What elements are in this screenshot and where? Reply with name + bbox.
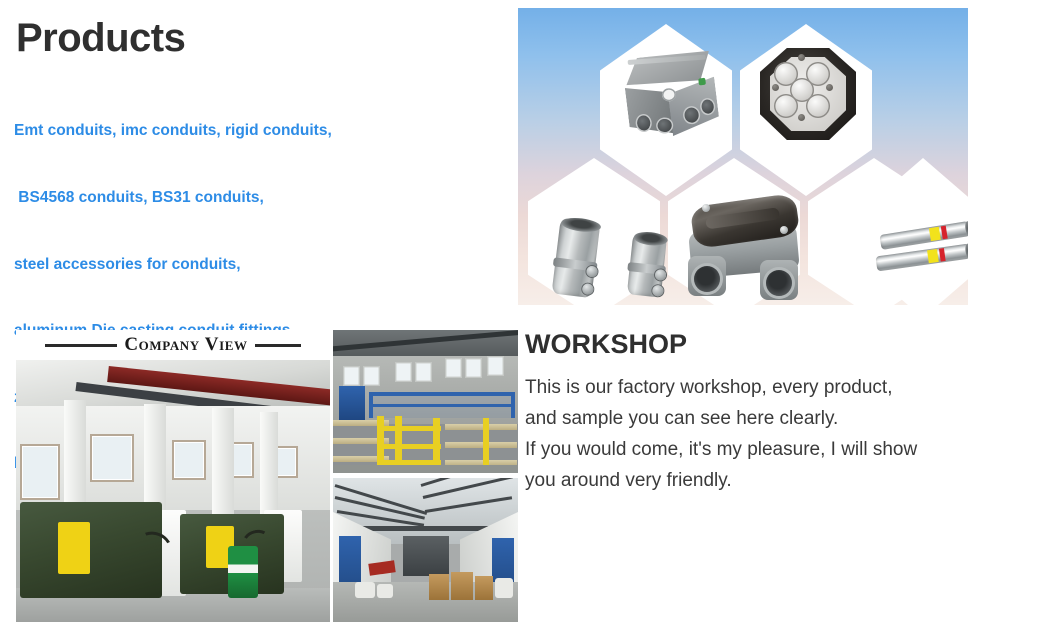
company-view-title: Company View — [124, 334, 247, 356]
workshop-line: If you would come, it's my pleasure, I w… — [525, 434, 1035, 465]
yellow-rack-beam — [377, 444, 441, 449]
yellow-rack-post — [483, 418, 489, 468]
coupling-screw — [652, 285, 664, 297]
warehouse-window — [487, 356, 504, 376]
page-title: Products — [16, 16, 185, 61]
warehouse-window — [415, 362, 432, 382]
warehouse-window — [363, 366, 380, 386]
collage-inner — [518, 8, 968, 305]
product-list-line: BS4568 conduits, BS31 conduits, — [14, 187, 484, 209]
company-view-banner: Company View — [16, 330, 330, 360]
ceiling-box-product — [760, 48, 856, 140]
warehouse-racks-image — [333, 330, 518, 473]
pipe-label-yellow — [927, 249, 939, 263]
coupling-product-small — [627, 232, 667, 297]
ceiling-box-stud — [798, 54, 805, 61]
junction-box-product — [621, 49, 720, 141]
ceiling-box-knockout — [774, 94, 798, 118]
carton-stack — [451, 572, 473, 600]
carton-stack — [429, 574, 449, 600]
pipe-label-red — [939, 248, 946, 262]
warehouse-window — [445, 358, 462, 378]
product-list-line: Emt conduits, imc conduits, rigid condui… — [14, 120, 484, 142]
pipe-end-cap — [964, 221, 968, 237]
conduit-body-bore — [766, 270, 792, 296]
banner-rule-left — [45, 344, 117, 347]
page-root: Products Emt conduits, imc conduits, rig… — [0, 0, 1060, 636]
warehouse-corridor-image — [333, 478, 518, 622]
workshop-title: WORKSHOP — [525, 329, 687, 360]
shelf-board — [445, 442, 517, 448]
warehouse-window — [465, 358, 482, 378]
goods-sack — [355, 582, 375, 598]
factory-window — [20, 444, 60, 500]
conduit-body-bolt — [702, 204, 710, 212]
workshop-line: This is our factory workshop, every prod… — [525, 372, 1035, 403]
warehouse-window — [343, 366, 360, 386]
goods-sack — [495, 578, 513, 598]
factory-window — [172, 440, 206, 480]
factory-column — [260, 412, 278, 520]
goods-sack — [377, 584, 393, 598]
corridor-red-banner — [368, 560, 395, 576]
conduit-body-bore — [694, 266, 720, 292]
warehouse-floor — [333, 465, 518, 473]
banner-rule-right — [255, 344, 301, 347]
box-ground-screw — [698, 78, 706, 86]
conduit-body-bolt — [780, 226, 788, 234]
carton-stack — [475, 576, 493, 600]
conduit-pipes-product — [876, 204, 968, 294]
pipe-label-yellow — [929, 227, 941, 241]
coupling-screw — [654, 269, 666, 281]
product-list-line: steel accessories for conduits, — [14, 254, 484, 276]
company-view-image: Company View — [16, 330, 330, 622]
pipe-label-red — [941, 226, 948, 240]
company-view-scene — [16, 360, 330, 622]
factory-window — [90, 434, 134, 482]
workshop-description: This is our factory workshop, every prod… — [525, 372, 1035, 496]
workshop-line: you around very friendly. — [525, 465, 1035, 496]
pipe-end-cap — [965, 243, 968, 259]
conduit-body-product — [684, 200, 804, 300]
ceiling-box-stud — [826, 84, 833, 91]
yellow-rack-beam — [377, 426, 441, 431]
factory-column — [212, 408, 234, 520]
warehouse-window — [395, 362, 412, 382]
ceiling-box-stud — [798, 114, 805, 121]
corridor-far-end — [403, 536, 449, 576]
shelf-board — [445, 424, 517, 430]
ceiling-box-knockout — [806, 94, 830, 118]
machine-yellow-guard — [58, 522, 90, 574]
product-collage-image — [518, 8, 968, 305]
workshop-line: and sample you can see here clearly. — [525, 403, 1035, 434]
gallery-column — [333, 330, 518, 622]
mezzanine-railing-bar — [369, 404, 515, 407]
roof-beam — [357, 526, 495, 531]
ceiling-box-stud — [772, 84, 779, 91]
blue-cabinet — [339, 386, 365, 420]
